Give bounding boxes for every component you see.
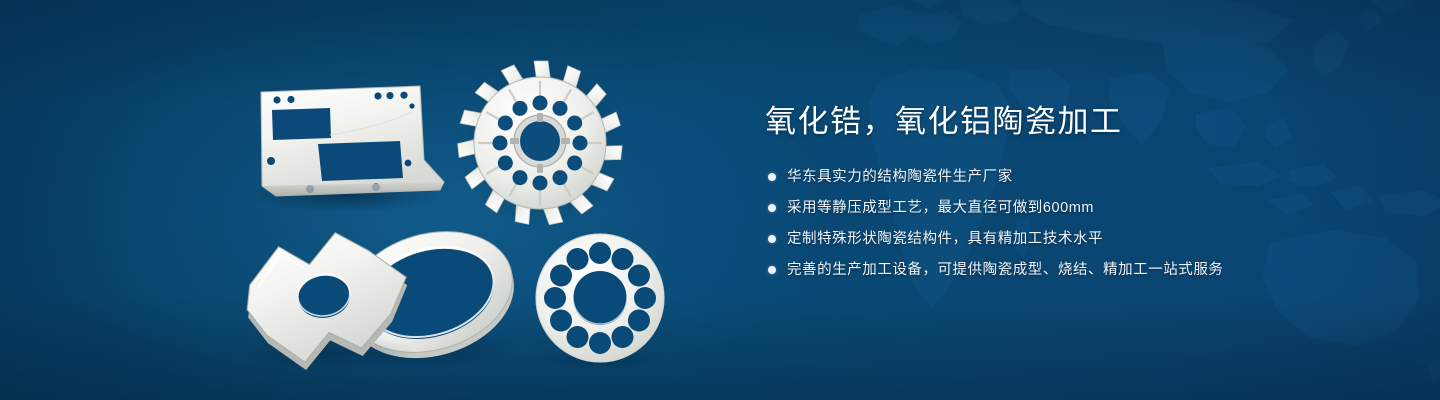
- feature-item: 完善的生产加工设备，可提供陶瓷成型、烧结、精加工一站式服务: [765, 260, 1405, 281]
- ceramic-impeller-disc: [456, 61, 624, 229]
- banner-copy: 氧化锆，氧化铝陶瓷加工 华东具实力的结构陶瓷件生产厂家 采用等静压成型工艺，最大…: [765, 104, 1405, 291]
- feature-text: 华东具实力的结构陶瓷件生产厂家: [787, 167, 1013, 188]
- feature-list: 华东具实力的结构陶瓷件生产厂家 采用等静压成型工艺，最大直径可做到600mm 定…: [765, 167, 1405, 281]
- bullet-dot-icon: [768, 204, 776, 212]
- banner-headline: 氧化锆，氧化铝陶瓷加工: [765, 104, 1405, 141]
- machined-ceramic-plate: [247, 86, 444, 212]
- feature-text: 定制特殊形状陶瓷结构件，具有精加工技术水平: [787, 229, 1103, 250]
- bullet-dot-icon: [768, 173, 776, 181]
- feature-item: 定制特殊形状陶瓷结构件，具有精加工技术水平: [765, 229, 1405, 250]
- ceramic-perforated-disc: [536, 234, 664, 372]
- feature-text: 采用等静压成型工艺，最大直径可做到600mm: [787, 198, 1094, 219]
- bullet-dot-icon: [768, 266, 776, 274]
- ceramic-products-group: [0, 0, 740, 400]
- feature-text: 完善的生产加工设备，可提供陶瓷成型、烧结、精加工一站式服务: [787, 260, 1223, 281]
- feature-item: 华东具实力的结构陶瓷件生产厂家: [765, 167, 1405, 188]
- feature-item: 采用等静压成型工艺，最大直径可做到600mm: [765, 198, 1405, 219]
- ceramic-product-banner: 氧化锆，氧化铝陶瓷加工 华东具实力的结构陶瓷件生产厂家 采用等静压成型工艺，最大…: [0, 0, 1440, 400]
- bullet-dot-icon: [768, 235, 776, 243]
